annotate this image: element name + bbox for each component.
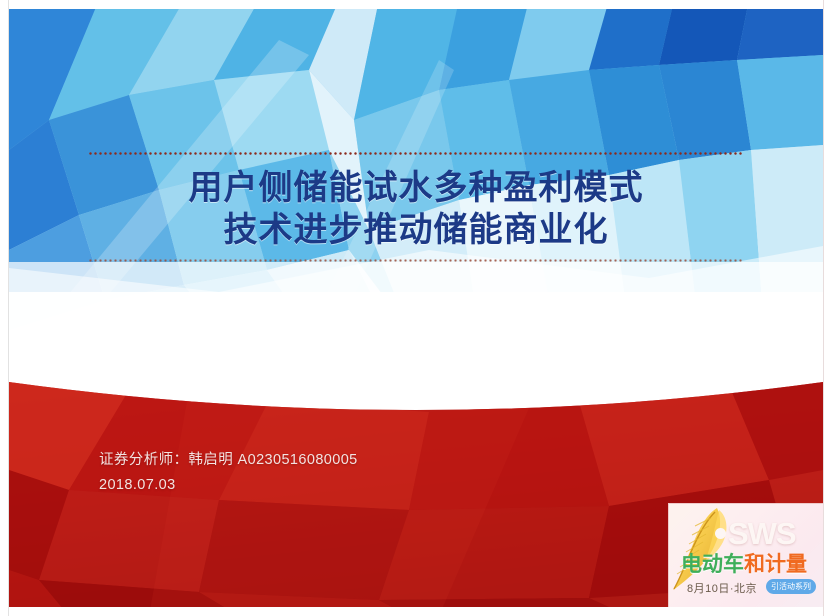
title-line-2: 技术进步推动储能商业化 <box>88 209 744 251</box>
tagline-orange: 和计量 <box>744 553 807 576</box>
brand-dot-icon <box>715 528 726 539</box>
promo-event-date: 8月10日·北京 <box>687 580 757 596</box>
title-divider-bottom <box>88 259 744 262</box>
sws-brand: SWS <box>715 516 796 552</box>
title-slide: 用户侧储能试水多种盈利模式 技术进步推动储能商业化 证券分析师：韩启明 A023… <box>0 0 832 616</box>
analyst-name: 证券分析师：韩启明 A0230516080005 <box>99 448 358 473</box>
promo-logo-card[interactable]: SWS 电动车和计量 8月10日·北京 引活动系列 <box>668 503 826 610</box>
presentation-date: 2018.07.03 <box>99 473 358 498</box>
title-line-1: 用户侧储能试水多种盈利模式 <box>88 167 744 209</box>
promo-badge: 引活动系列 <box>766 579 816 594</box>
promo-tagline: 电动车和计量 <box>681 548 807 578</box>
analyst-credits: 证券分析师：韩启明 A0230516080005 2018.07.03 <box>99 448 358 498</box>
tagline-green: 电动车 <box>681 553 744 576</box>
title-block: 用户侧储能试水多种盈利模式 技术进步推动储能商业化 <box>88 152 744 262</box>
page-title: 用户侧储能试水多种盈利模式 技术进步推动储能商业化 <box>88 155 744 259</box>
